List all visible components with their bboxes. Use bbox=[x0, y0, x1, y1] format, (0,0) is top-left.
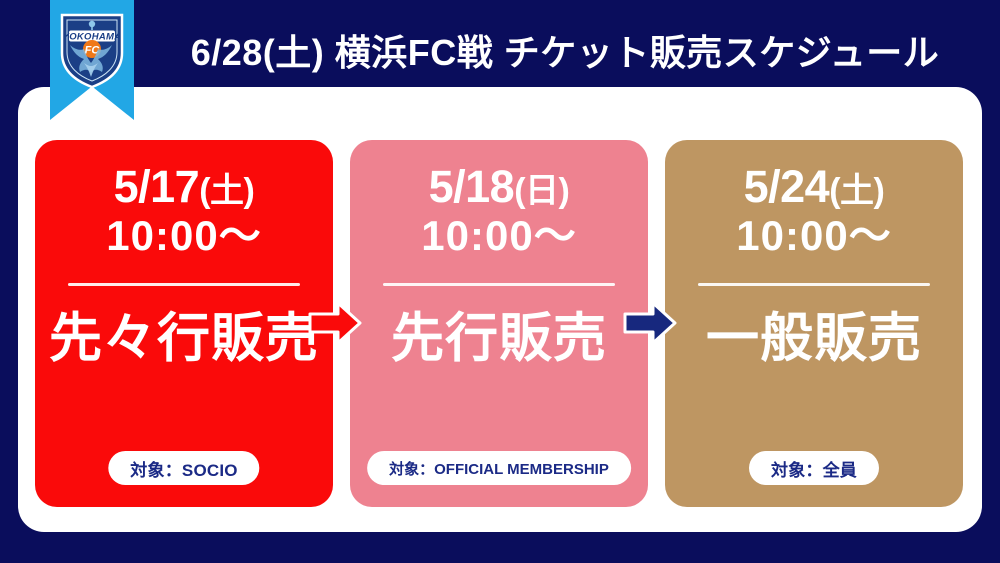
card-date-0: 5/17(土) bbox=[114, 162, 255, 212]
card-date-1: 5/18(日) bbox=[429, 162, 570, 212]
card-date-2: 5/24(土) bbox=[744, 162, 885, 212]
card-label-1: 先行販売 bbox=[391, 312, 607, 365]
card-badge-0: 対象：SOCIO bbox=[108, 451, 259, 485]
card-divider-1 bbox=[383, 283, 615, 286]
page-title: 6/28(土) 横浜FC戦 チケット販売スケジュール bbox=[150, 20, 980, 80]
card-divider-2 bbox=[698, 283, 930, 286]
card-badge-text-0: 対象：SOCIO bbox=[130, 456, 237, 481]
card-badge-1: 対象：OFFICIAL MEMBERSHIP bbox=[367, 451, 631, 485]
card-label-0: 先々行販売 bbox=[49, 312, 319, 365]
header-bar: 6/28(土) 横浜FC戦 チケット販売スケジュール bbox=[0, 6, 1000, 90]
yokohama-fc-crest-icon: YOKOHAMA FC bbox=[58, 9, 126, 89]
card-dow-1: (日) bbox=[514, 172, 569, 210]
schedule-card-2[interactable]: 5/24(土) 10:00〜 一般販売 対象：全員 bbox=[665, 140, 963, 507]
card-date-value-1: 5/18 bbox=[429, 161, 515, 212]
card-badge-2: 対象：全員 bbox=[749, 451, 879, 485]
card-badge-text-1: 対象：OFFICIAL MEMBERSHIP bbox=[389, 458, 609, 479]
card-date-value-0: 5/17 bbox=[114, 161, 200, 212]
card-time-2: 10:00〜 bbox=[736, 212, 891, 260]
card-divider-0 bbox=[68, 283, 300, 286]
card-date-value-2: 5/24 bbox=[744, 161, 830, 212]
arrow-right-icon-red bbox=[308, 300, 362, 346]
card-dow-0: (土) bbox=[199, 172, 254, 210]
card-badge-text-2: 対象：全員 bbox=[771, 456, 857, 481]
card-time-1: 10:00〜 bbox=[421, 212, 576, 260]
card-label-2: 一般販売 bbox=[706, 312, 922, 365]
schedule-card-1[interactable]: 5/18(日) 10:00〜 先行販売 対象：OFFICIAL MEMBERSH… bbox=[350, 140, 648, 507]
card-time-0: 10:00〜 bbox=[106, 212, 261, 260]
arrow-right-icon-navy bbox=[623, 300, 677, 346]
schedule-card-0[interactable]: 5/17(土) 10:00〜 先々行販売 対象：SOCIO bbox=[35, 140, 333, 507]
card-dow-2: (土) bbox=[829, 172, 884, 210]
schedule-cards: 5/17(土) 10:00〜 先々行販売 対象：SOCIO 5/18(日) 10… bbox=[18, 87, 982, 532]
schedule-infographic: 6/28(土) 横浜FC戦 チケット販売スケジュール YOKOHAMA FC 5… bbox=[0, 0, 1000, 563]
